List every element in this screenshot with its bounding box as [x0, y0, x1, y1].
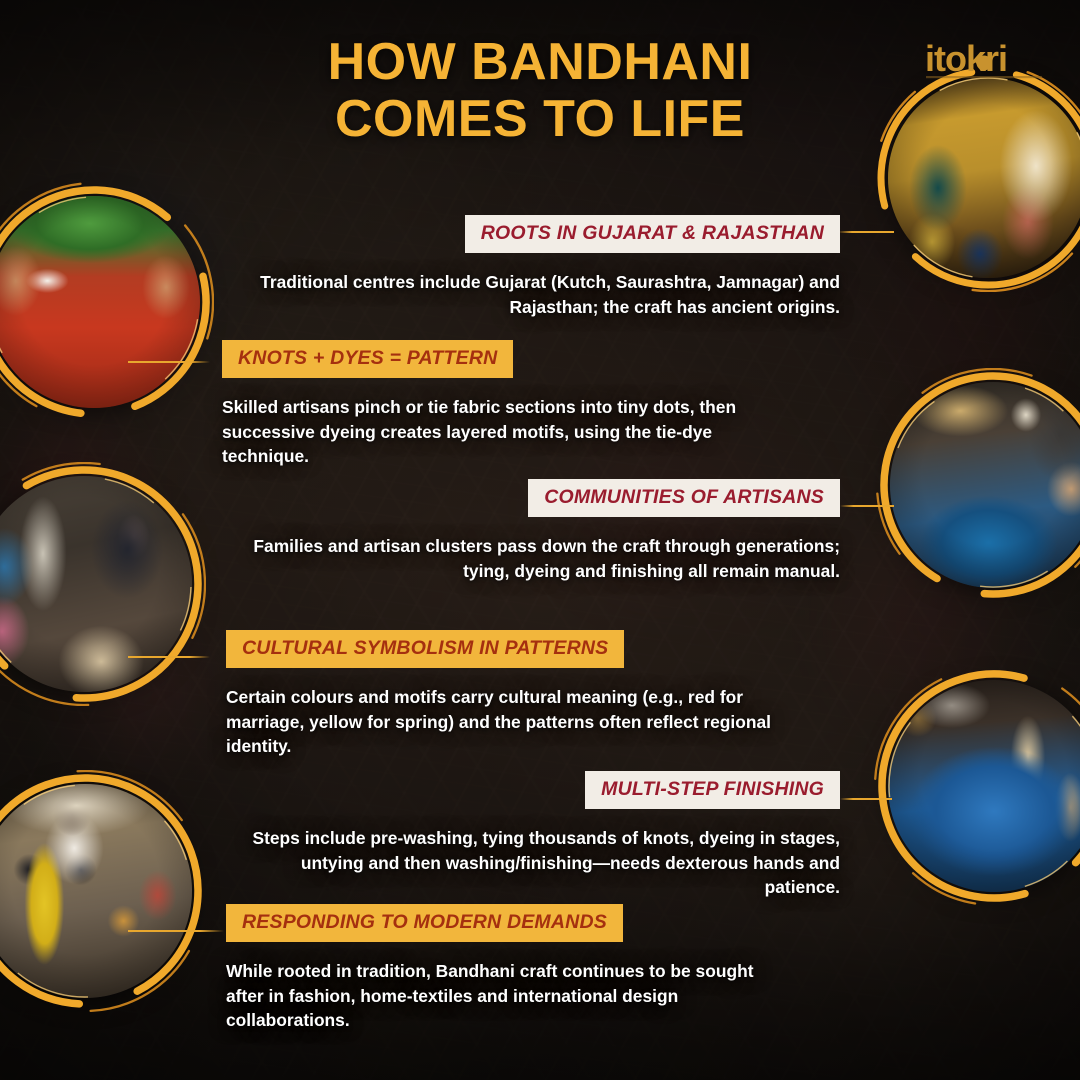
photo-indigo-dyeing [890, 382, 1080, 588]
page-title-line-1: HOW BANDHANI [328, 33, 753, 91]
photo-woman-tying-outdoors [0, 476, 192, 692]
brand-logo-itokri[interactable]: itokri [924, 38, 1046, 82]
section-modern: RESPONDING TO MODERN DEMANDS While roote… [226, 904, 786, 1033]
section-communities: COMMUNITIES OF ARTISANS Families and art… [240, 479, 840, 583]
photo-hands-red-fabric-ring [0, 182, 214, 422]
section-symbolism-body: Certain colours and motifs carry cultura… [226, 685, 774, 759]
photo-yellow-lift-ring [0, 770, 206, 1012]
infographic-poster: HOW BANDHANI COMES TO LIFE itokri [0, 0, 1080, 1080]
connector-communities [840, 505, 894, 507]
photo-indigo-dyeing-ring [876, 368, 1080, 602]
photo-woman-tying-outdoors-ring [0, 462, 206, 706]
section-finishing-body: Steps include pre-washing, tying thousan… [240, 826, 840, 900]
brand-logo-dot [977, 56, 992, 71]
section-modern-body: While rooted in tradition, Bandhani craf… [226, 959, 786, 1033]
connector-roots [838, 231, 894, 233]
connector-modern [128, 930, 224, 932]
section-finishing-label: MULTI-STEP FINISHING [585, 771, 840, 809]
section-knots: KNOTS + DYES = PATTERN Skilled artisans … [222, 340, 770, 469]
section-roots-label: ROOTS IN GUJARAT & RAJASTHAN [465, 215, 840, 253]
section-roots: ROOTS IN GUJARAT & RAJASTHAN Traditional… [240, 215, 840, 319]
section-symbolism: CULTURAL SYMBOLISM IN PATTERNS Certain c… [226, 630, 774, 759]
section-symbolism-label: CULTURAL SYMBOLISM IN PATTERNS [226, 630, 624, 668]
connector-finishing [840, 798, 892, 800]
section-knots-body: Skilled artisans pinch or tie fabric sec… [222, 395, 770, 469]
photo-dye-vat [888, 680, 1080, 892]
page-title: HOW BANDHANI COMES TO LIFE [0, 34, 1080, 148]
section-communities-label: COMMUNITIES OF ARTISANS [528, 479, 840, 517]
photo-hands-red-fabric [0, 196, 200, 408]
connector-symbolism [128, 656, 210, 658]
brand-logo-text: itokri [925, 38, 1007, 79]
photo-dye-vat-ring [874, 666, 1080, 906]
photo-yellow-lift [0, 784, 192, 998]
page-title-line-2: COMES TO LIFE [0, 91, 1080, 148]
brand-logo-underline [926, 76, 1042, 78]
section-modern-label: RESPONDING TO MODERN DEMANDS [226, 904, 623, 942]
section-communities-body: Families and artisan clusters pass down … [240, 534, 840, 583]
connector-knots [128, 361, 210, 363]
section-roots-body: Traditional centres include Gujarat (Kut… [240, 270, 840, 319]
section-finishing: MULTI-STEP FINISHING Steps include pre-w… [240, 771, 840, 900]
section-knots-label: KNOTS + DYES = PATTERN [222, 340, 513, 378]
